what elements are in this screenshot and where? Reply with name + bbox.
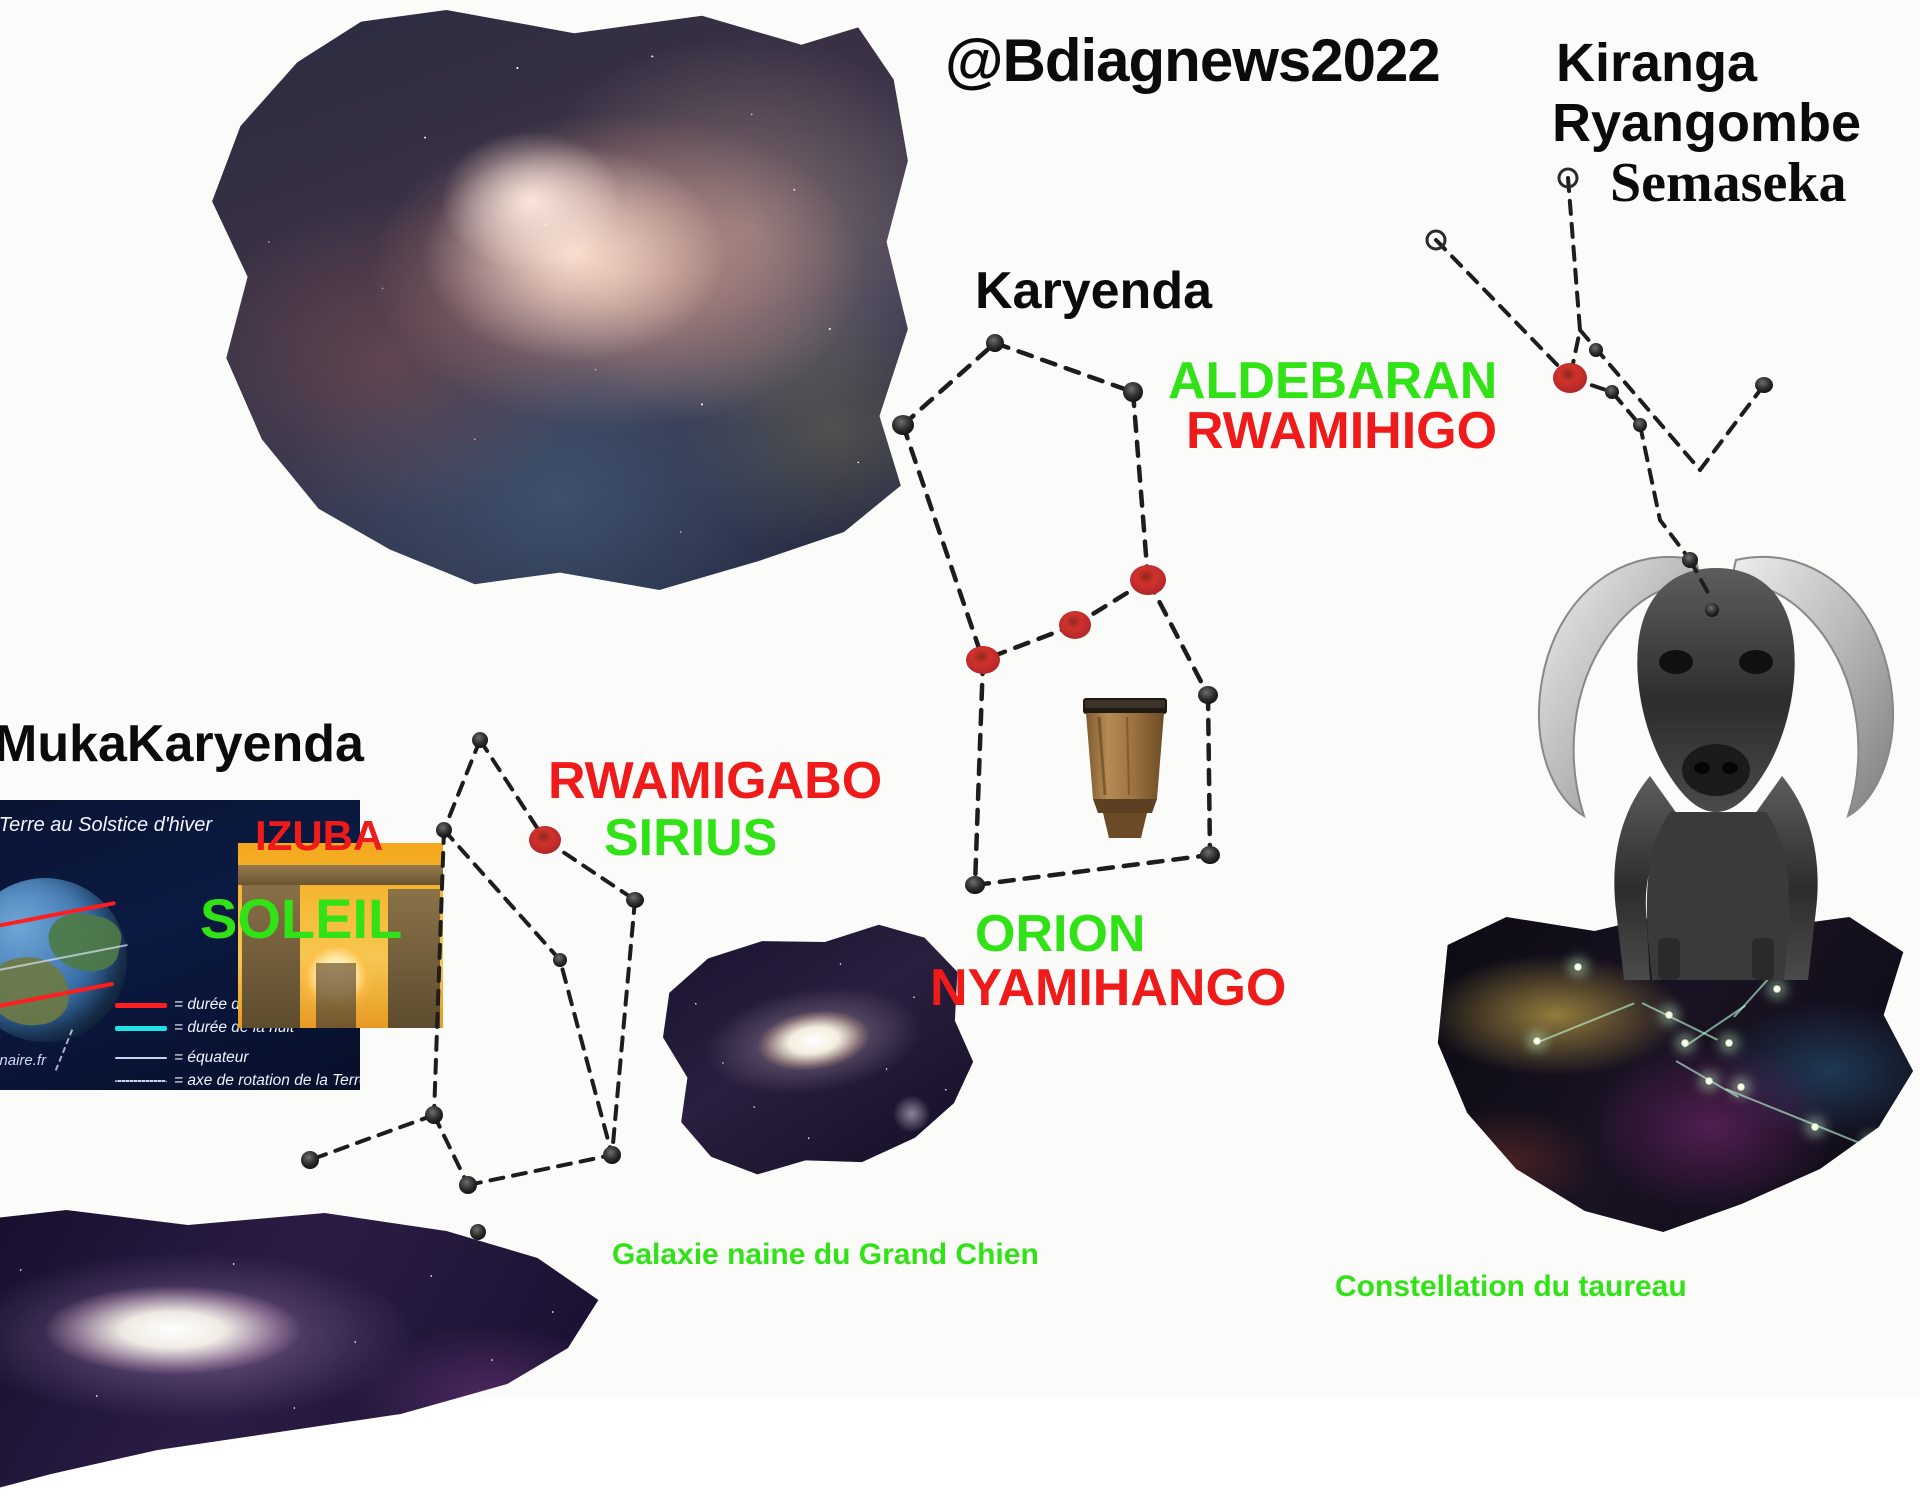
label-rwamihigo: RWAMIHIGO [1186, 405, 1497, 458]
label-aldebaran: ALDEBARAN [1168, 355, 1497, 408]
label-sirius: SIRIUS [604, 812, 777, 865]
caption-canis-major: Galaxie naine du Grand Chien [612, 1240, 1039, 1271]
label-kiranga: Kiranga [1556, 36, 1757, 91]
watermark-handle: @Bdiagnews2022 [945, 30, 1440, 91]
label-mukakaryenda: MukaKaryenda [0, 718, 364, 771]
caption-taurus: Constellation du taureau [1335, 1272, 1687, 1303]
label-izuba: IZUBA [255, 815, 383, 858]
label-ryangombe: Ryangombe [1552, 96, 1861, 151]
label-nyamihango: NYAMIHANGO [930, 962, 1286, 1015]
label-semaseka: Semaseka [1610, 155, 1846, 212]
orion-lines [903, 343, 1210, 885]
infographic-canvas: e la Terre au Solstice d'hiver = durée d… [0, 0, 1920, 1396]
orion-star-markers [892, 334, 1220, 894]
label-karyenda: Karyenda [975, 265, 1212, 318]
label-soleil: SOLEIL [200, 890, 402, 947]
label-orion: ORION [975, 908, 1145, 961]
label-rwamigabo: RWAMIGABO [548, 755, 882, 808]
